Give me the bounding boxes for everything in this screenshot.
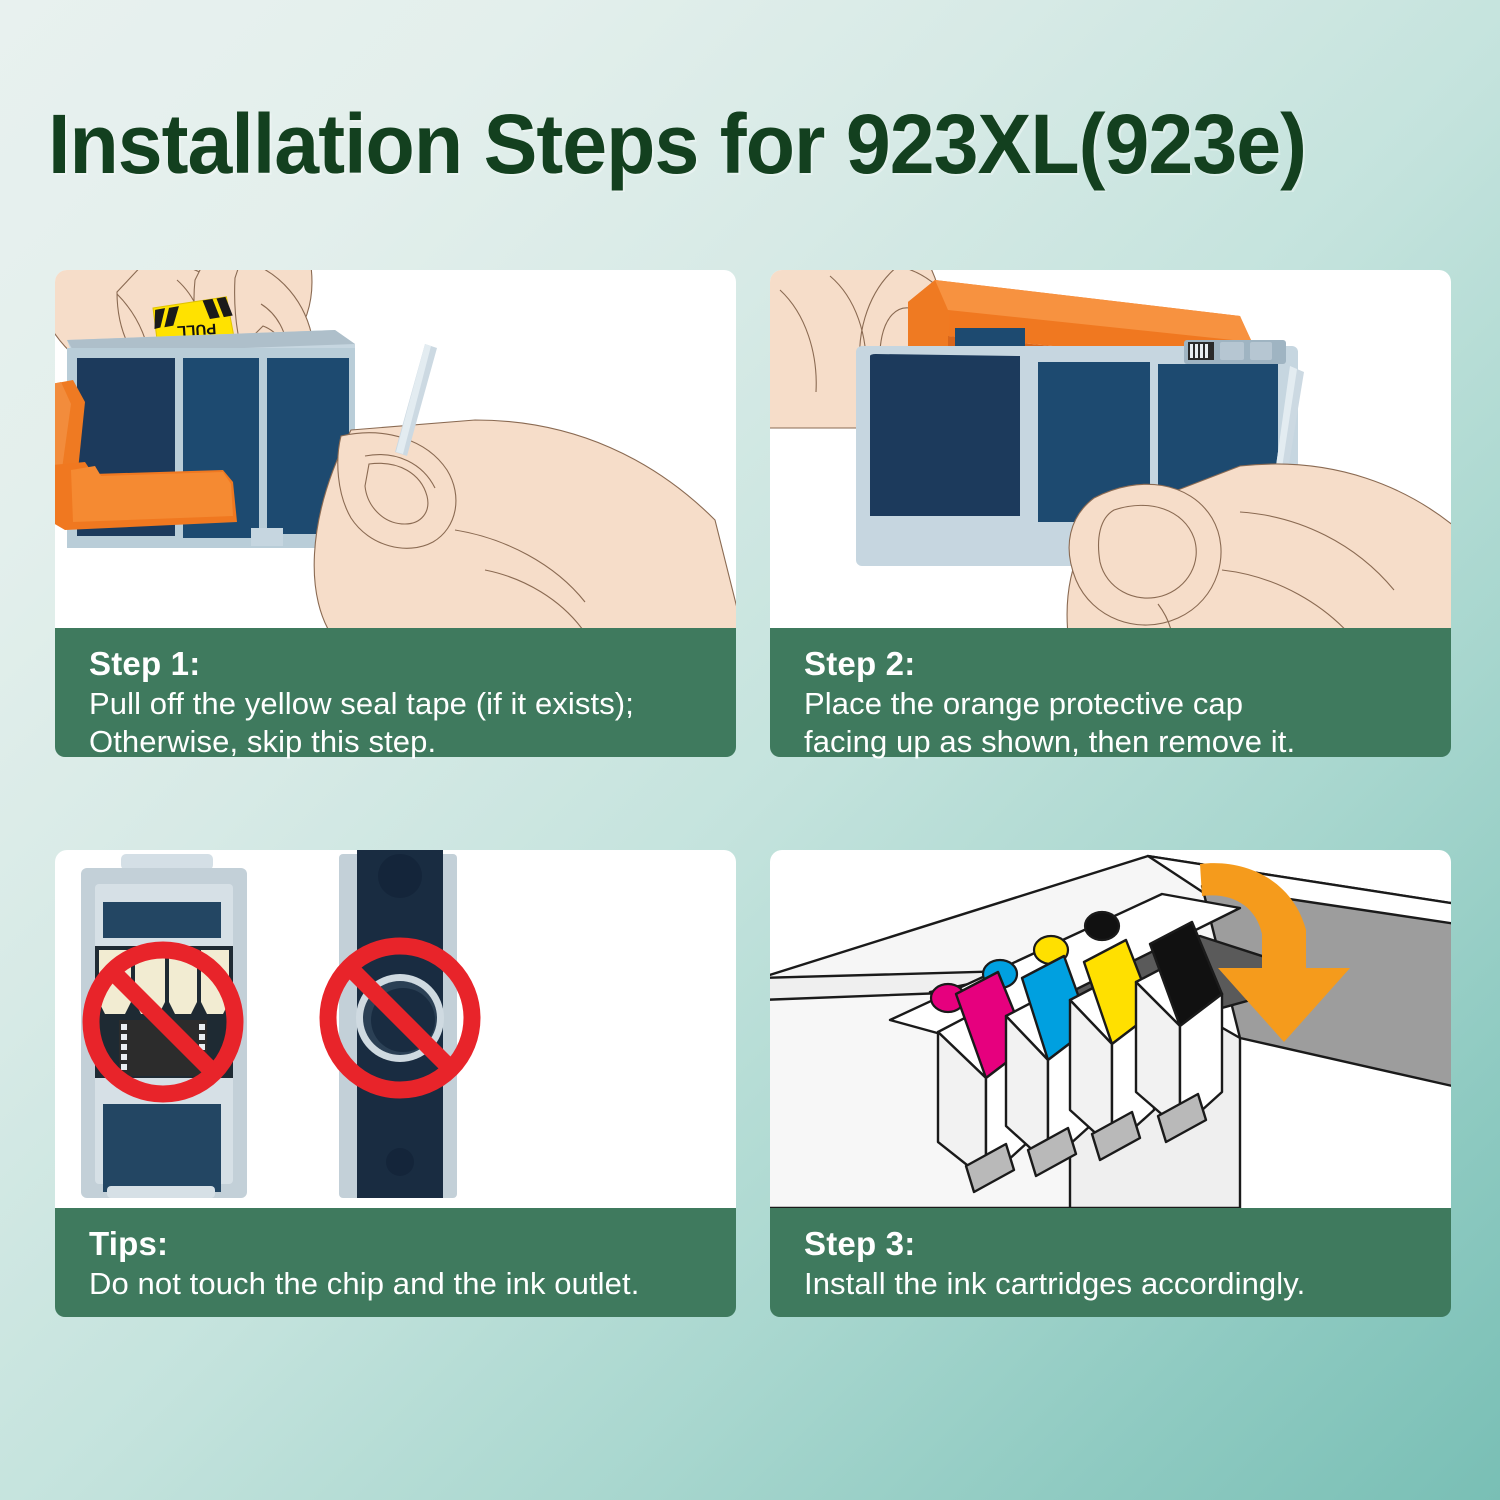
step1-heading: Step 1: (89, 646, 706, 683)
lower-hand-icon (314, 420, 736, 628)
step1-body: Pull off the yellow seal tape (if it exi… (89, 685, 706, 762)
illustration-tips (55, 850, 736, 1208)
caption-step2: Step 2: Place the orange protective cap … (770, 628, 1451, 757)
ink-cartridge-step1 (55, 330, 355, 548)
step3-heading: Step 3: (804, 1226, 1421, 1263)
tips-body: Do not touch the chip and the ink outlet… (89, 1265, 706, 1303)
caption-tips: Tips: Do not touch the chip and the ink … (55, 1208, 736, 1317)
step1-artwork: PULL (55, 270, 736, 628)
caption-step3: Step 3: Install the ink cartridges accor… (770, 1208, 1451, 1317)
right-hand-icon (1067, 464, 1451, 628)
panel-step3: Step 3: Install the ink cartridges accor… (770, 850, 1451, 1317)
step2-artwork (770, 270, 1451, 628)
illustration-step3 (770, 850, 1451, 1208)
step2-body: Place the orange protective cap facing u… (804, 685, 1421, 762)
page-title: Installation Steps for 923XL(923e) (48, 96, 1402, 193)
illustration-step1: PULL (55, 270, 736, 628)
panel-tips: Tips: Do not touch the chip and the ink … (55, 850, 736, 1317)
step3-body: Install the ink cartridges accordingly. (804, 1265, 1421, 1303)
tips-artwork (55, 850, 736, 1208)
panel-step2: Step 2: Place the orange protective cap … (770, 270, 1451, 757)
illustration-step2 (770, 270, 1451, 628)
step2-heading: Step 2: (804, 646, 1421, 683)
cartridge-chip-icon (1184, 340, 1286, 364)
indicator-black (1085, 912, 1119, 940)
panel-step1: PULL (55, 270, 736, 757)
caption-step1: Step 1: Pull off the yellow seal tape (i… (55, 628, 736, 757)
tips-heading: Tips: (89, 1226, 706, 1263)
step3-artwork (770, 850, 1451, 1208)
